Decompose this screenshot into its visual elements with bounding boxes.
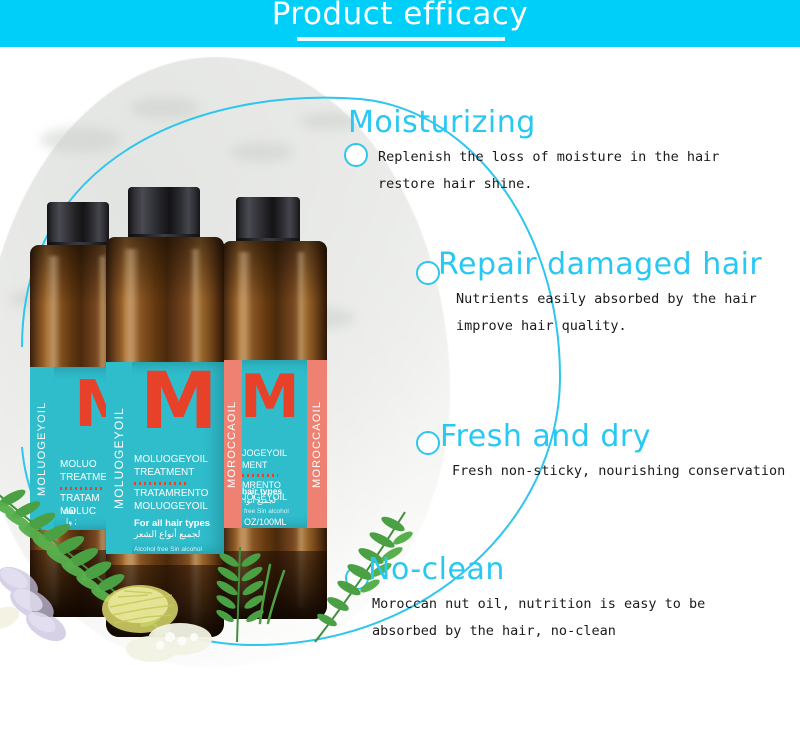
feature-body-fresh: Fresh non-sticky, nourishing conservatio… [452,458,800,485]
lavender-sprig [0,552,98,672]
feature-title-no-clean: No-clean [368,552,798,587]
feature-title-fresh: Fresh and dry [440,419,800,454]
title-underline [297,37,505,41]
feature-body-repair: Nutrients easily absorbed by the hair im… [456,286,800,340]
feature-fresh-and-dry: Fresh and dry Fresh non-sticky, nourishi… [440,419,800,485]
feature-body-line: restore hair shine. [378,171,798,198]
feature-title-moisturizing: Moisturizing [348,105,798,140]
node-marker-fresh [417,432,439,454]
content-stage: MOLUOGEYOIL M MOLUO TREATME TRATAM MOLUC… [0,47,800,750]
feature-no-clean: No-clean Moroccan nut oil, nutrition is … [368,552,798,645]
feature-body-line: Replenish the loss of moisture in the ha… [378,144,798,171]
page-title: Product efficacy [0,0,800,32]
header-banner: Product efficacy [0,0,800,47]
grass-blades [240,557,300,627]
label-brand: MOLUOGEYOIL [134,454,224,467]
bottle-cap [47,202,109,249]
logo-m-center: M [140,372,216,433]
bottle-cap [128,187,200,241]
blossom-cluster [80,567,250,677]
feature-moisturizing: Moisturizing Replenish the loss of moist… [348,105,798,198]
logo-m-right: M [240,374,298,421]
node-marker-repair [417,262,439,284]
feature-body-line: Fresh non-sticky, nourishing conservatio… [452,458,800,485]
feature-body-line: Nutrients easily absorbed by the hair [456,286,800,313]
feature-body-no-clean: Moroccan nut oil, nutrition is easy to b… [372,591,798,645]
feature-title-repair: Repair damaged hair [438,247,800,282]
bottle-cap [236,197,300,245]
label-product: TREATMENT [134,467,224,480]
feature-body-line: absorbed by the hair, no-clean [372,618,798,645]
feature-repair-damaged-hair: Repair damaged hair Nutrients easily abs… [438,247,800,340]
feature-body-line: improve hair quality. [456,313,800,340]
product-efficacy-infographic: Product efficacy [0,0,800,750]
feature-body-moisturizing: Replenish the loss of moisture in the ha… [378,144,798,198]
feature-body-line: Moroccan nut oil, nutrition is easy to b… [372,591,798,618]
